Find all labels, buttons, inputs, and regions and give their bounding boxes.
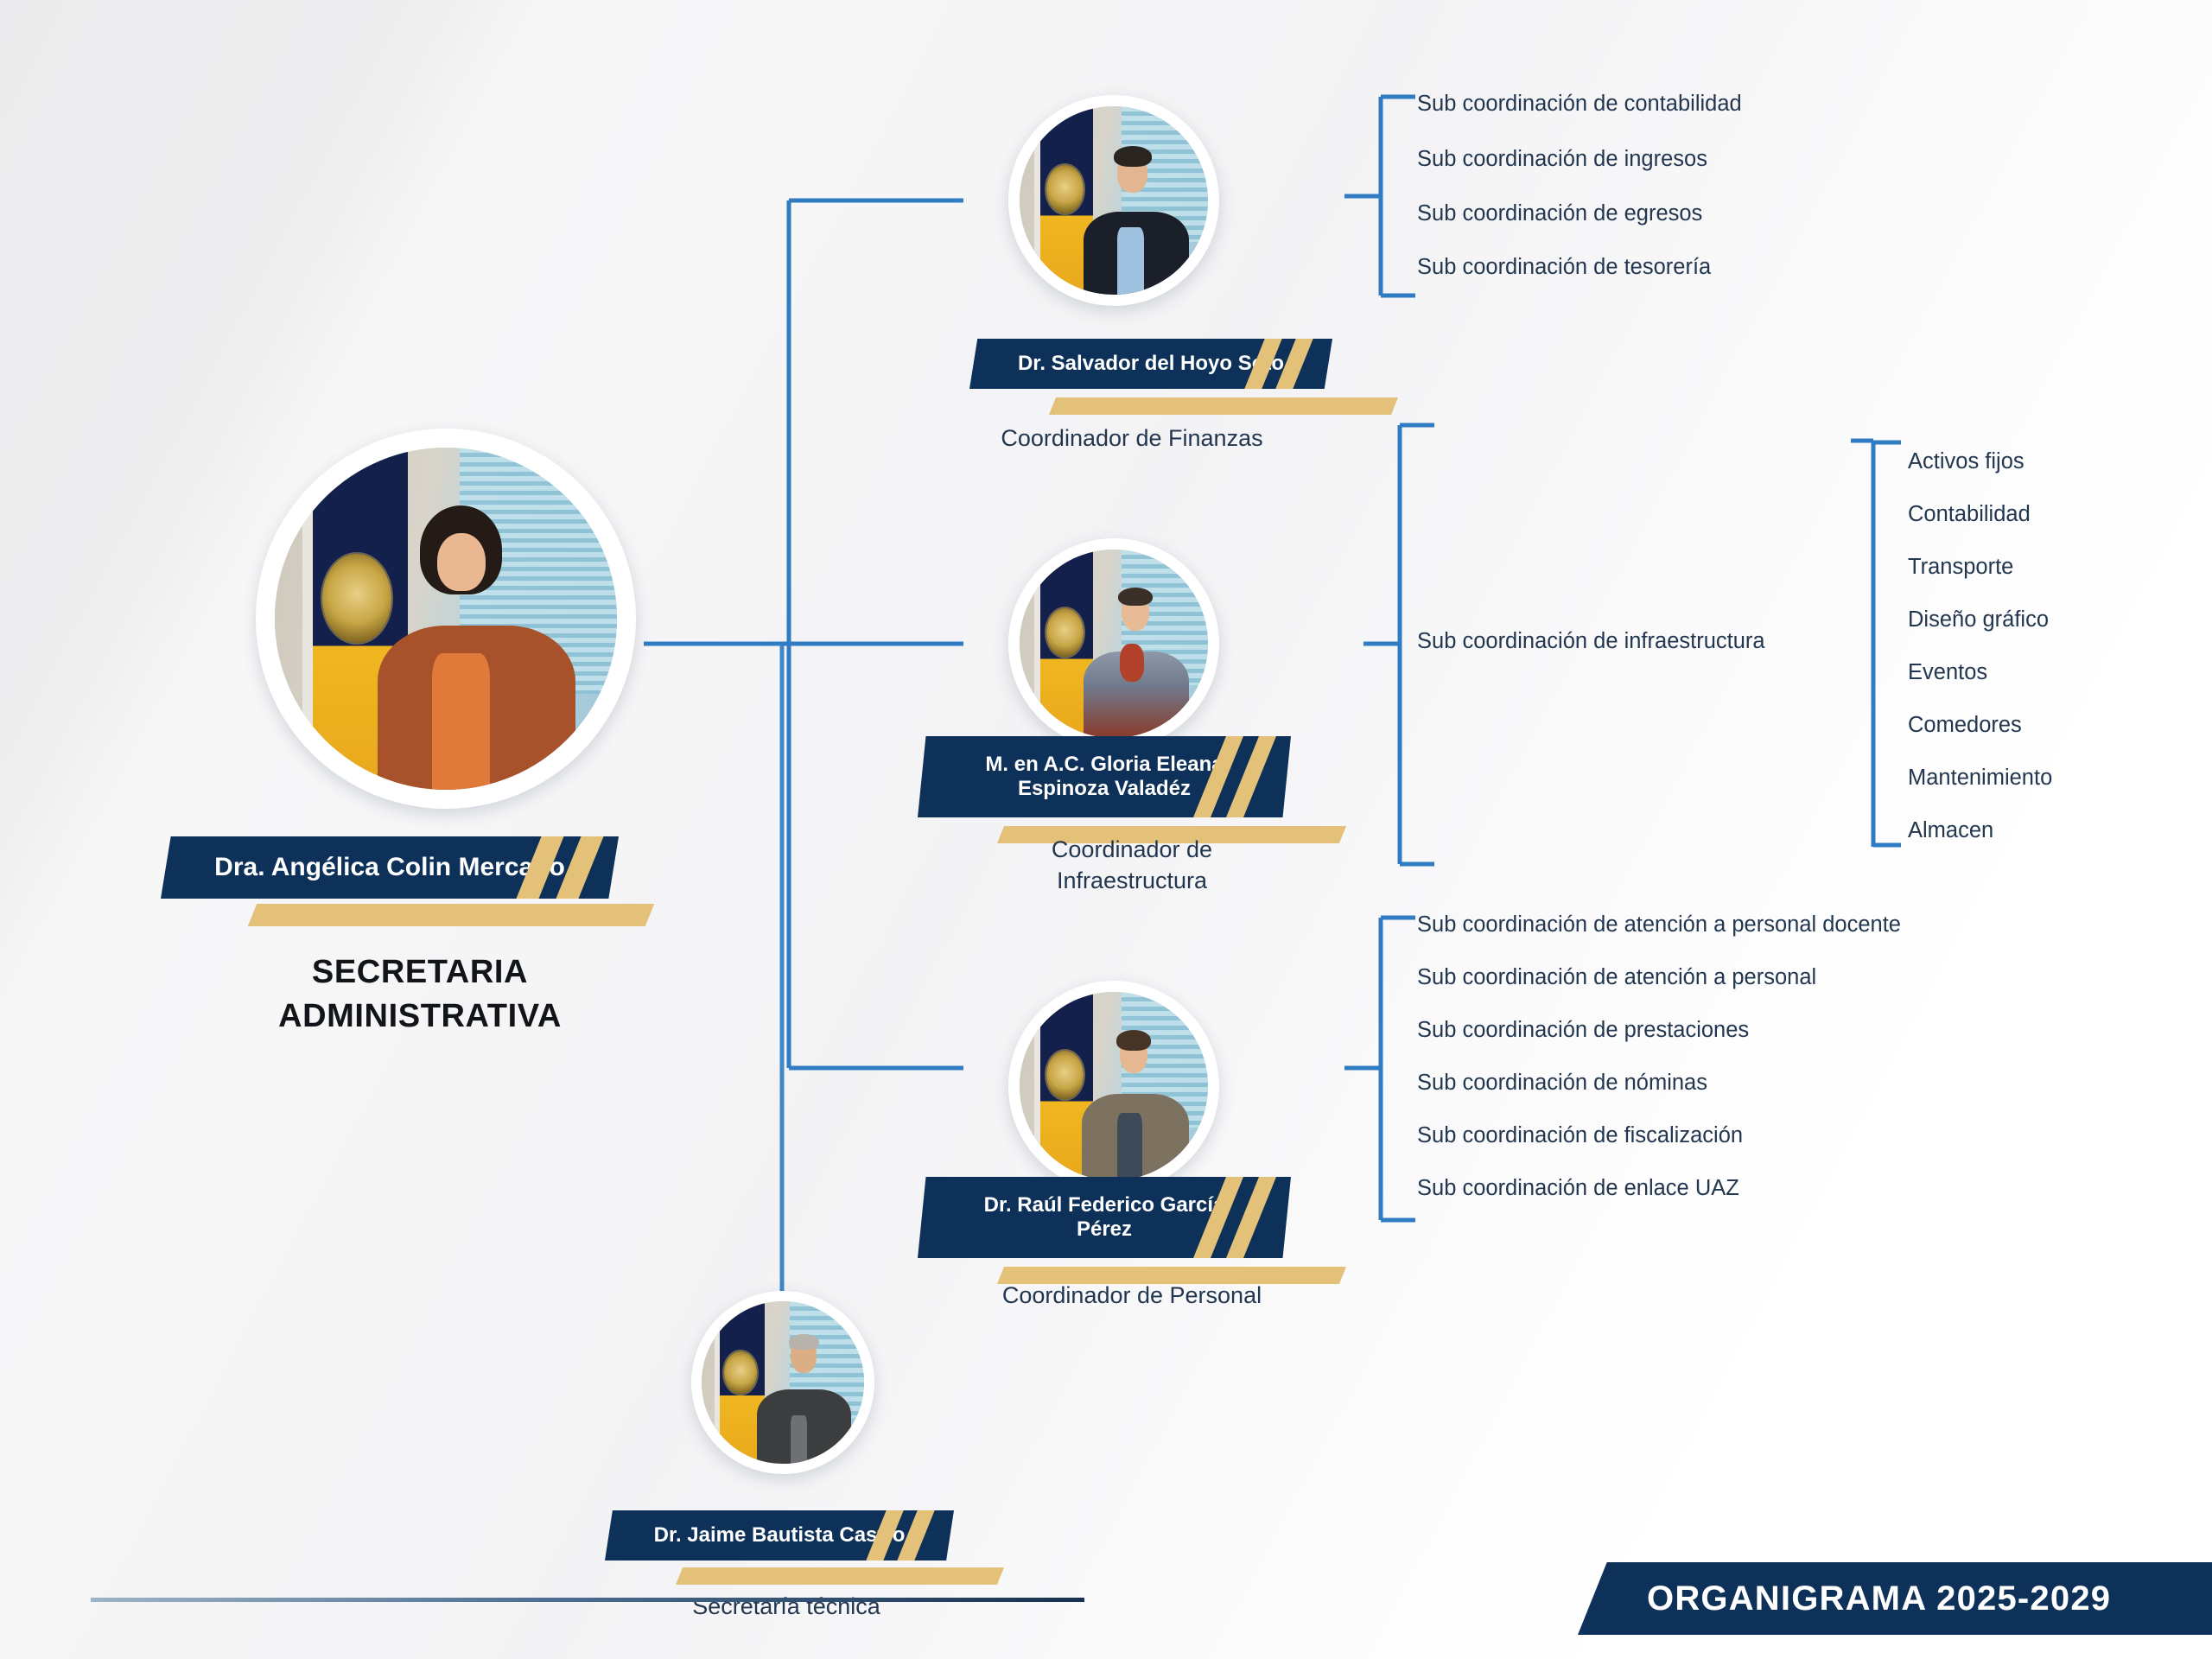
list-item[interactable]: Sub coordinación de enlace UAZ bbox=[1417, 1178, 1739, 1200]
list-item[interactable]: Sub coordinación de infraestructura bbox=[1417, 631, 1765, 653]
role-infraestructura-line1: Coordinador de bbox=[916, 835, 1348, 866]
list-item[interactable]: Sub coordinación de contabilidad bbox=[1417, 93, 1742, 116]
nameplate-personal-line2: Pérez bbox=[1077, 1217, 1132, 1242]
nameplate-finanzas: Dr. Salvador del Hoyo Soto bbox=[969, 339, 1436, 425]
list-item[interactable]: Sub coordinación de atención a personal … bbox=[1417, 914, 1901, 937]
avatar-personal[interactable] bbox=[1008, 981, 1219, 1192]
nameplate-secretaria-tecnica-label: Dr. Jaime Bautista Castro bbox=[654, 1523, 906, 1548]
footer-banner: ORGANIGRAMA 2025-2029 bbox=[1578, 1562, 2212, 1635]
list-item[interactable]: Diseño gráfico bbox=[1908, 609, 2049, 632]
portrait-secretaria-tecnica bbox=[702, 1301, 864, 1464]
root-title: SECRETARIA ADMINISTRATIVA bbox=[161, 950, 679, 1039]
list-item[interactable]: Sub coordinación de nóminas bbox=[1417, 1072, 1707, 1095]
nameplate-root: Dra. Angélica Colin Mercado bbox=[161, 836, 679, 933]
list-item[interactable]: Sub coordinación de fiscalización bbox=[1417, 1125, 1743, 1147]
root-title-line2: ADMINISTRATIVA bbox=[161, 995, 679, 1039]
list-item[interactable]: Contabilidad bbox=[1908, 504, 2031, 526]
list-item[interactable]: Sub coordinación de ingresos bbox=[1417, 149, 1707, 171]
nameplate-infraestructura-line2: Espinoza Valadéz bbox=[1018, 777, 1191, 801]
list-item[interactable]: Sub coordinación de tesorería bbox=[1417, 257, 1711, 279]
nameplate-infraestructura: M. en A.C. Gloria Eleana Espinoza Valadé… bbox=[918, 736, 1402, 847]
portrait-finanzas bbox=[1020, 106, 1208, 295]
node-secretaria-tecnica[interactable] bbox=[691, 1291, 874, 1474]
portrait-infraestructura bbox=[1020, 550, 1208, 738]
role-finanzas: Coordinador de Finanzas bbox=[916, 423, 1348, 454]
role-infraestructura: Coordinador de Infraestructura bbox=[916, 835, 1348, 896]
avatar-secretaria-tecnica[interactable] bbox=[691, 1291, 874, 1474]
node-personal[interactable] bbox=[1008, 981, 1219, 1192]
portrait-root bbox=[275, 448, 617, 790]
nameplate-personal: Dr. Raúl Federico García Pérez bbox=[918, 1177, 1402, 1287]
avatar-root[interactable] bbox=[256, 429, 636, 809]
nameplate-root-label: Dra. Angélica Colin Mercado bbox=[214, 852, 565, 882]
list-item[interactable]: Transporte bbox=[1908, 556, 2013, 579]
portrait-personal bbox=[1020, 992, 1208, 1180]
node-root[interactable] bbox=[256, 429, 636, 809]
nameplate-secretaria-tecnica: Dr. Jaime Bautista Castro bbox=[605, 1510, 1054, 1602]
role-personal: Coordinador de Personal bbox=[916, 1281, 1348, 1312]
footer-title: ORGANIGRAMA 2025-2029 bbox=[1647, 1580, 2111, 1618]
node-finanzas[interactable] bbox=[1008, 95, 1219, 306]
list-item[interactable]: Comedores bbox=[1908, 715, 2022, 737]
role-secretaria-tecnica: Secretaría técnica bbox=[570, 1592, 1002, 1623]
list-item[interactable]: Sub coordinación de prestaciones bbox=[1417, 1020, 1749, 1042]
list-item[interactable]: Mantenimiento bbox=[1908, 767, 2052, 790]
list-item[interactable]: Activos fijos bbox=[1908, 451, 2024, 474]
node-infraestructura[interactable] bbox=[1008, 538, 1219, 749]
avatar-infraestructura[interactable] bbox=[1008, 538, 1219, 749]
nameplate-personal-line1: Dr. Raúl Federico García bbox=[984, 1193, 1225, 1217]
list-item[interactable]: Sub coordinación de egresos bbox=[1417, 203, 1702, 226]
list-item[interactable]: Sub coordinación de atención a personal bbox=[1417, 967, 1816, 989]
avatar-finanzas[interactable] bbox=[1008, 95, 1219, 306]
footer-rule bbox=[91, 1598, 1084, 1602]
root-title-line1: SECRETARIA bbox=[161, 950, 679, 995]
nameplate-finanzas-label: Dr. Salvador del Hoyo Soto bbox=[1018, 352, 1284, 376]
list-item[interactable]: Eventos bbox=[1908, 662, 1987, 684]
nameplate-infraestructura-line1: M. en A.C. Gloria Eleana bbox=[985, 753, 1223, 777]
list-item[interactable]: Almacen bbox=[1908, 820, 1993, 842]
role-infraestructura-line2: Infraestructura bbox=[916, 866, 1348, 897]
